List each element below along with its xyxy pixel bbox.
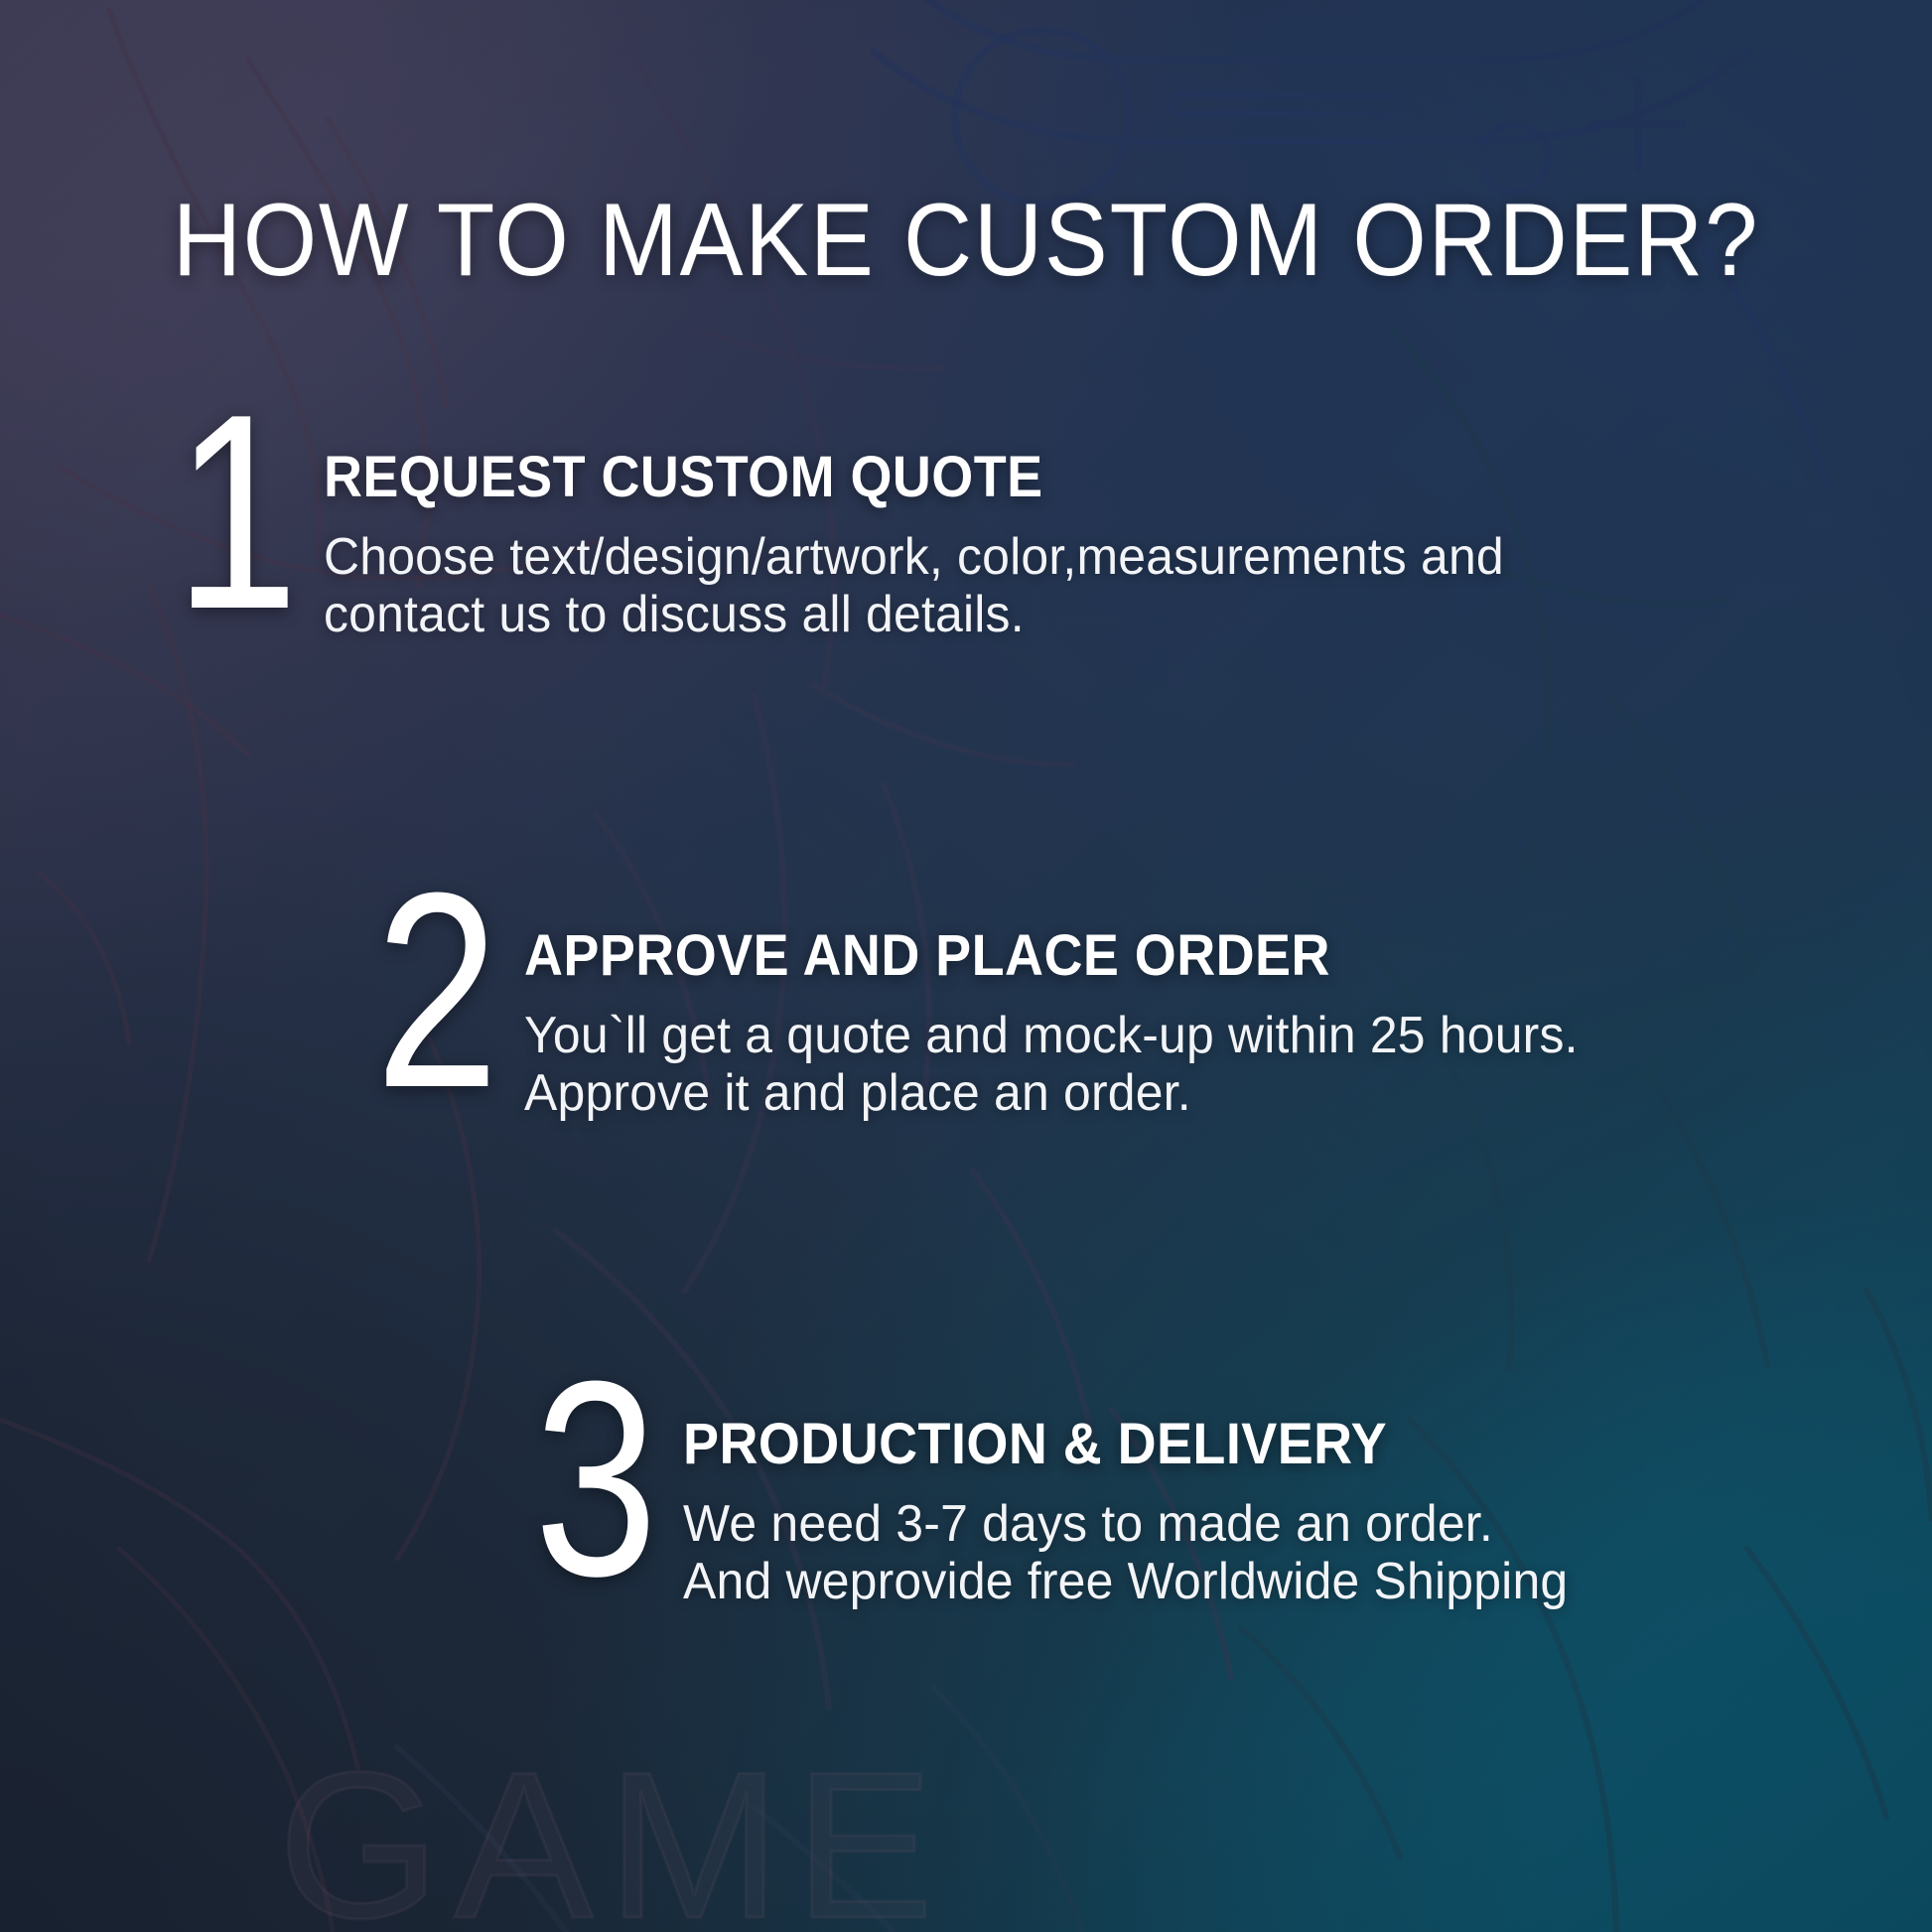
step-description-line: Choose text/design/artwork, color,measur… [324, 528, 1504, 586]
step-body-3: PRODUCTION & DELIVERY We need 3-7 days t… [683, 1382, 1605, 1610]
step-body-1: REQUEST CUSTOM QUOTE Choose text/design/… [324, 415, 1553, 643]
step-body-2: APPROVE AND PLACE ORDER You`ll get a quo… [524, 894, 1622, 1122]
step-heading-2: APPROVE AND PLACE ORDER [524, 927, 1546, 985]
step-description-line: And weprovide free Worldwide Shipping [683, 1553, 1568, 1610]
step-item-2: 2 APPROVE AND PLACE ORDER You`ll get a q… [375, 894, 1622, 1122]
step-item-3: 3 PRODUCTION & DELIVERY We need 3-7 days… [534, 1382, 1605, 1610]
step-description-1: Choose text/design/artwork, color,measur… [324, 528, 1504, 643]
step-description-line: Approve it and place an order. [524, 1064, 1579, 1122]
step-description-3: We need 3-7 days to made an order. And w… [683, 1495, 1568, 1610]
step-number-1: 1 [175, 415, 294, 610]
step-description-line: We need 3-7 days to made an order. [683, 1495, 1568, 1553]
step-number-2: 2 [375, 894, 494, 1088]
poster-canvas: GAME HOW TO MAKE CUSTOM ORDER? 1 REQUEST… [0, 0, 1932, 1932]
step-description-line: contact us to discuss all details. [324, 586, 1504, 643]
step-heading-1: REQUEST CUSTOM QUOTE [324, 449, 1467, 506]
poster-content: HOW TO MAKE CUSTOM ORDER? 1 REQUEST CUST… [0, 0, 1932, 1932]
step-item-1: 1 REQUEST CUSTOM QUOTE Choose text/desig… [175, 415, 1553, 643]
step-heading-3: PRODUCTION & DELIVERY [683, 1416, 1541, 1473]
step-description-line: You`ll get a quote and mock-up within 25… [524, 1007, 1579, 1064]
page-title: HOW TO MAKE CUSTOM ORDER? [77, 187, 1855, 295]
step-number-3: 3 [534, 1382, 653, 1577]
step-description-2: You`ll get a quote and mock-up within 25… [524, 1007, 1579, 1122]
